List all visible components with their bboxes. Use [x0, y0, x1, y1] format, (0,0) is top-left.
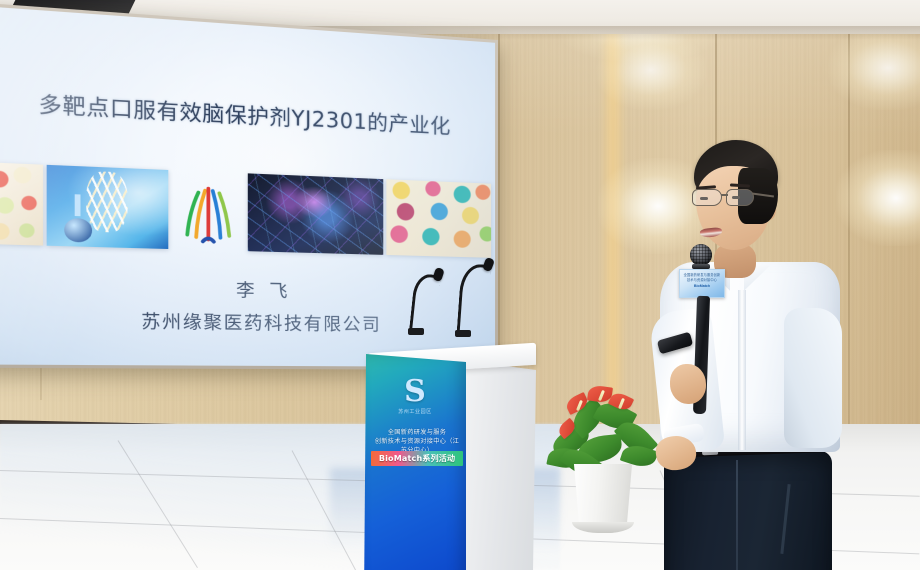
trouser-pleat: [736, 460, 738, 570]
eyeglasses-icon: [690, 189, 774, 209]
lab-flask-graphic: [61, 211, 96, 245]
speaker-right-hand: [670, 364, 706, 404]
mic-gooseneck: [409, 273, 441, 333]
slide-presenter-block: 李 飞 苏州缘聚医药科技有限公司: [38, 271, 471, 337]
plant-pot: [570, 464, 636, 526]
branching-tree-logo: [172, 170, 245, 251]
neuron-glow: [295, 186, 333, 219]
slide-title: 多靶点口服有效脑保护剂YJ2301的产业化: [38, 87, 471, 141]
event-badge: BioMatch系列活动: [371, 451, 463, 466]
mic-capsule: [482, 257, 495, 272]
mic-flag-top-text: 全国新药研发与服务创新技术与资源对接中心: [682, 273, 722, 282]
microphone-flag: 全国新药研发与服务创新技术与资源对接中心 BioMatch: [679, 269, 725, 298]
dna-lab-flask-photo: [47, 165, 169, 249]
gooseneck-microphone-left: [408, 268, 448, 336]
event-badge-label: BioMatch系列活动: [379, 453, 455, 464]
shirt-placket: [738, 290, 746, 450]
mic-gooseneck: [457, 263, 492, 335]
mic-capsule: [432, 267, 445, 282]
neuron-network-photo: [248, 173, 383, 255]
speaker-person: 全国新药研发与服务创新技术与资源对接中心 BioMatch: [634, 140, 864, 570]
presentation-photo-scene: 多靶点口服有效脑保护剂YJ2301的产业化: [0, 0, 920, 570]
slide-image-strip: [0, 159, 495, 261]
speaker-trousers: [664, 451, 832, 570]
eyeglass-lens-right: [726, 189, 754, 206]
presenter-name: 李 飞: [38, 271, 471, 306]
podium-line-1: 全国新药研发与服务: [374, 428, 460, 437]
mic-grille-head: [690, 244, 712, 266]
plant-saucer: [572, 522, 634, 533]
eyeglass-lens-left: [692, 189, 722, 206]
podium-front-banner: S 苏州工业园区 全国新药研发与服务 创新技术与资源对接中心（江苏分中心） Bi…: [364, 354, 466, 570]
logo-subtext: 苏州工业园区: [392, 408, 438, 415]
eyeglass-bridge: [721, 194, 728, 196]
capsules-photo: [386, 179, 491, 258]
assorted-pills-photo: [0, 162, 43, 245]
podium-side-panel: [460, 360, 536, 570]
organization-logo: S 苏州工业园区: [392, 378, 438, 422]
eyeglass-temple-arm: [752, 192, 774, 197]
mic-grille-mesh: [690, 244, 712, 266]
logo-mark: S: [392, 378, 438, 406]
speaker-right-arm: [784, 308, 842, 448]
podium: S 苏州工业园区 全国新药研发与服务 创新技术与资源对接中心（江苏分中心） Bi…: [362, 330, 537, 570]
mic-flag-bottom-text: BioMatch: [682, 284, 722, 288]
gooseneck-microphone-right: [455, 258, 499, 340]
